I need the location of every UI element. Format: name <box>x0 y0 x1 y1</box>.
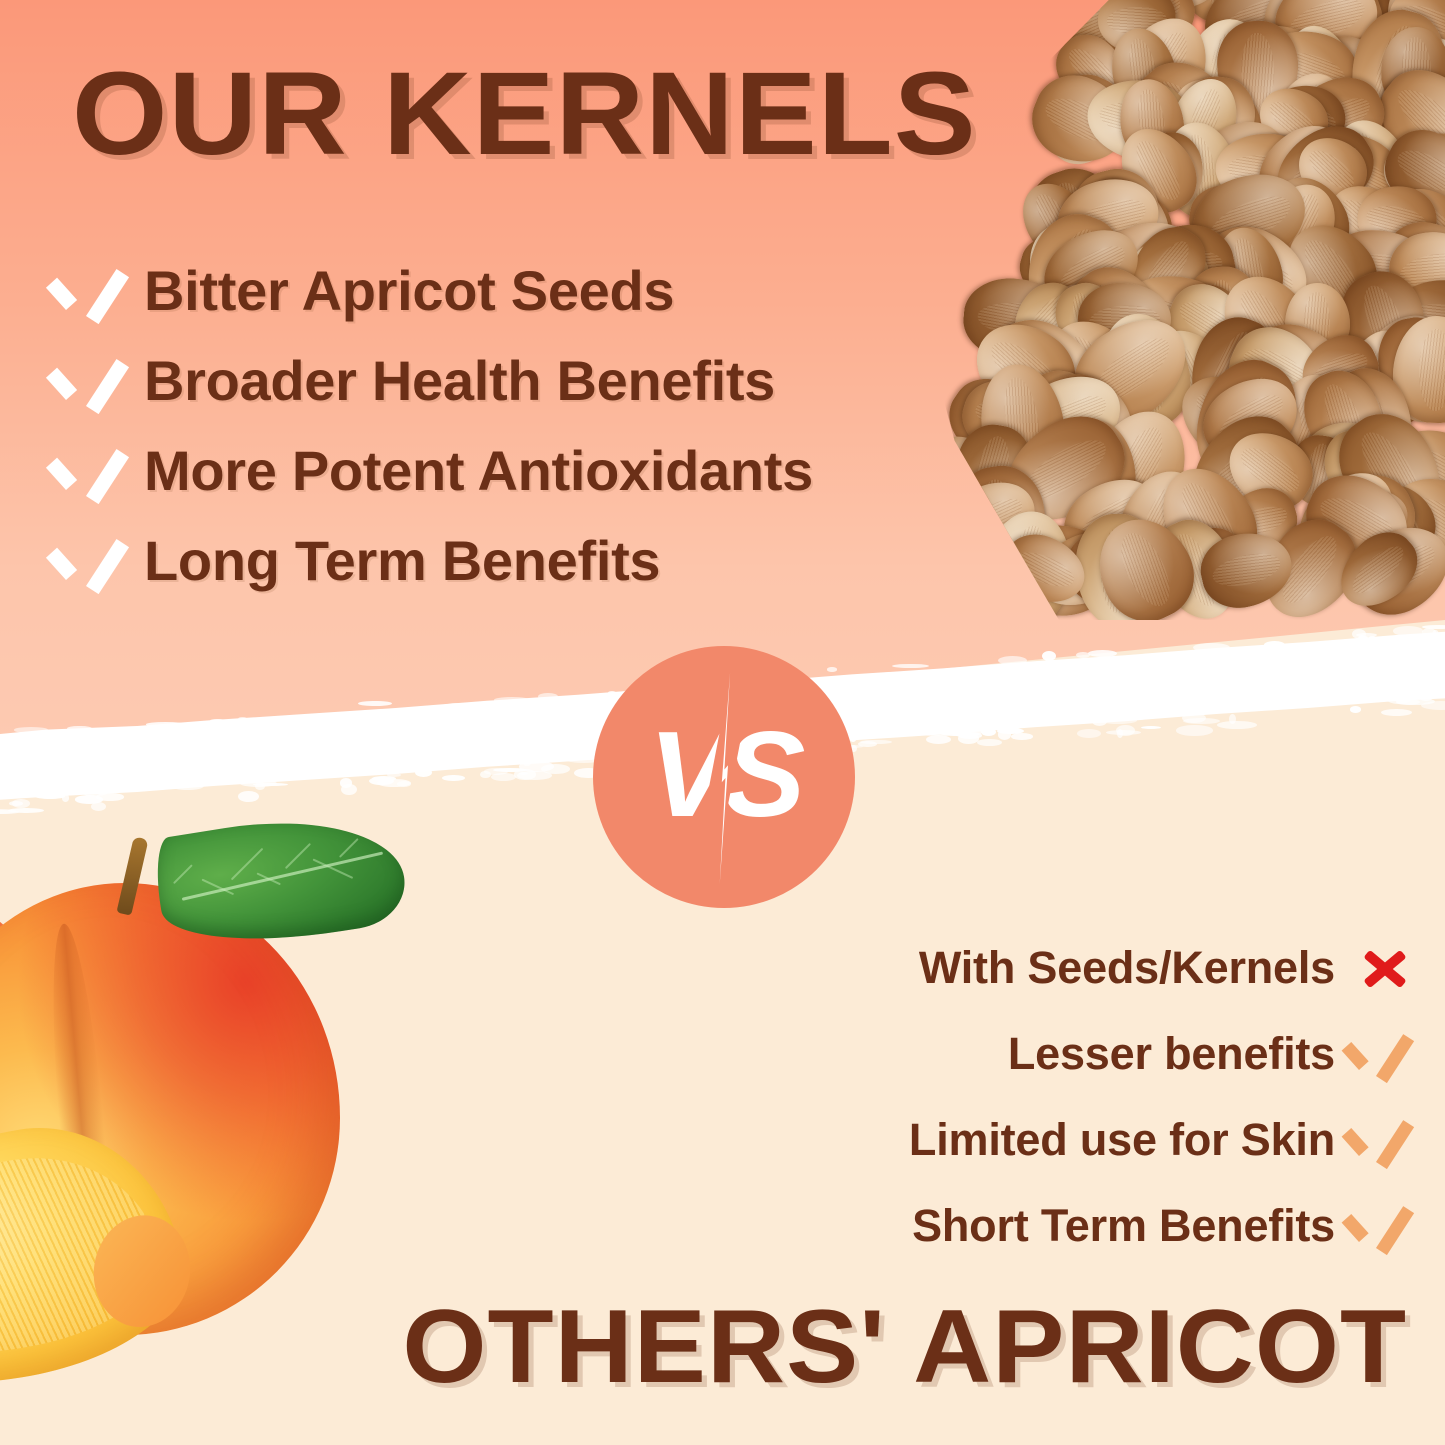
list-item-label: With Seeds/Kernels <box>919 942 1335 994</box>
divider-speck <box>397 781 412 787</box>
divider-speck <box>514 769 535 779</box>
list-item-label: Long Term Benefits <box>144 528 660 593</box>
divider-speck <box>926 735 951 744</box>
divider-speck <box>1229 714 1236 725</box>
divider-speck <box>1176 725 1212 735</box>
check-peach-icon <box>1355 1114 1411 1166</box>
list-item: More Potent Antioxidants <box>60 425 813 515</box>
check-peach-icon <box>1355 1028 1411 1080</box>
leaf-vein <box>173 864 193 884</box>
divider-speck <box>1117 729 1123 738</box>
divider-speck <box>1381 709 1412 716</box>
divider-speck <box>1356 633 1377 637</box>
divider-speck <box>255 782 266 790</box>
divider-speck <box>517 771 552 780</box>
divider-speck <box>0 810 19 814</box>
list-item-label: Limited use for Skin <box>909 1114 1335 1166</box>
divider-speck <box>480 771 490 778</box>
divider-speck <box>998 729 1011 739</box>
cross-red-icon <box>1355 942 1411 994</box>
divider-speck <box>491 773 516 781</box>
divider-speck <box>958 732 982 738</box>
divider-speck <box>958 733 980 744</box>
divider-speck <box>1422 625 1445 629</box>
list-item: Short Term Benefits <box>912 1183 1411 1269</box>
divider-speck <box>1421 701 1445 710</box>
divider-speck <box>1116 725 1134 736</box>
divider-speck <box>1106 730 1140 735</box>
check-peach-icon <box>1355 1200 1411 1252</box>
divider-speck <box>253 783 289 787</box>
divider-speck <box>442 775 465 781</box>
divider-speck <box>858 741 876 747</box>
divider-speck <box>860 740 892 745</box>
list-item: Long Term Benefits <box>60 515 813 605</box>
divider-speck <box>238 791 258 802</box>
divider-speck <box>1183 718 1220 724</box>
list-item: Bitter Apricot Seeds <box>60 245 813 335</box>
check-white-icon <box>60 263 118 317</box>
divider-speck <box>377 779 411 787</box>
check-white-icon <box>60 533 118 587</box>
divider-speck <box>9 801 23 806</box>
check-white-icon <box>60 443 118 497</box>
divider-speck <box>75 795 103 803</box>
list-item-label: Broader Health Benefits <box>144 348 775 413</box>
divider-speck <box>1011 733 1033 740</box>
divider-speck <box>484 768 508 775</box>
divider-speck <box>91 802 107 812</box>
list-item-label: Short Term Benefits <box>912 1200 1335 1252</box>
check-white-icon <box>60 353 118 407</box>
divider-speck <box>369 777 394 786</box>
our-kernels-benefit-list: Bitter Apricot Seeds Broader Health Bene… <box>60 245 813 605</box>
divider-speck <box>0 809 17 814</box>
divider-speck <box>493 768 526 772</box>
leaf-vein <box>339 838 359 858</box>
list-item: Limited use for Skin <box>909 1097 1411 1183</box>
divider-speck <box>519 772 528 776</box>
comparison-poster: OUR KERNELS Bitter Apricot Seeds Broader… <box>0 0 1445 1445</box>
page-title-our-kernels: OUR KERNELS <box>72 52 977 177</box>
list-item-label: More Potent Antioxidants <box>144 438 813 503</box>
divider-speck <box>12 799 30 808</box>
divider-speck <box>541 764 570 774</box>
list-item: Broader Health Benefits <box>60 335 813 425</box>
divider-speck <box>372 776 396 781</box>
list-item: Lesser benefits <box>1008 1011 1411 1097</box>
divider-speck <box>977 739 1001 746</box>
versus-badge: VS <box>593 646 855 908</box>
divider-speck <box>340 778 351 787</box>
divider-speck <box>1217 721 1256 729</box>
list-item-label: Lesser benefits <box>1008 1028 1335 1080</box>
divider-speck <box>8 808 44 813</box>
divider-speck <box>1141 726 1161 729</box>
leaf-vein <box>285 843 311 869</box>
list-item: With Seeds/Kernels <box>919 925 1411 1011</box>
page-title-others-apricot: OTHERS' APRICOT <box>402 1292 1407 1402</box>
others-apricot-drawback-list: With Seeds/Kernels Lesser benefits Limit… <box>909 925 1411 1269</box>
divider-speck <box>341 784 356 795</box>
list-item-label: Bitter Apricot Seeds <box>144 258 674 323</box>
divider-speck <box>96 793 123 800</box>
divider-speck <box>1350 706 1362 712</box>
divider-speck <box>1077 729 1101 738</box>
